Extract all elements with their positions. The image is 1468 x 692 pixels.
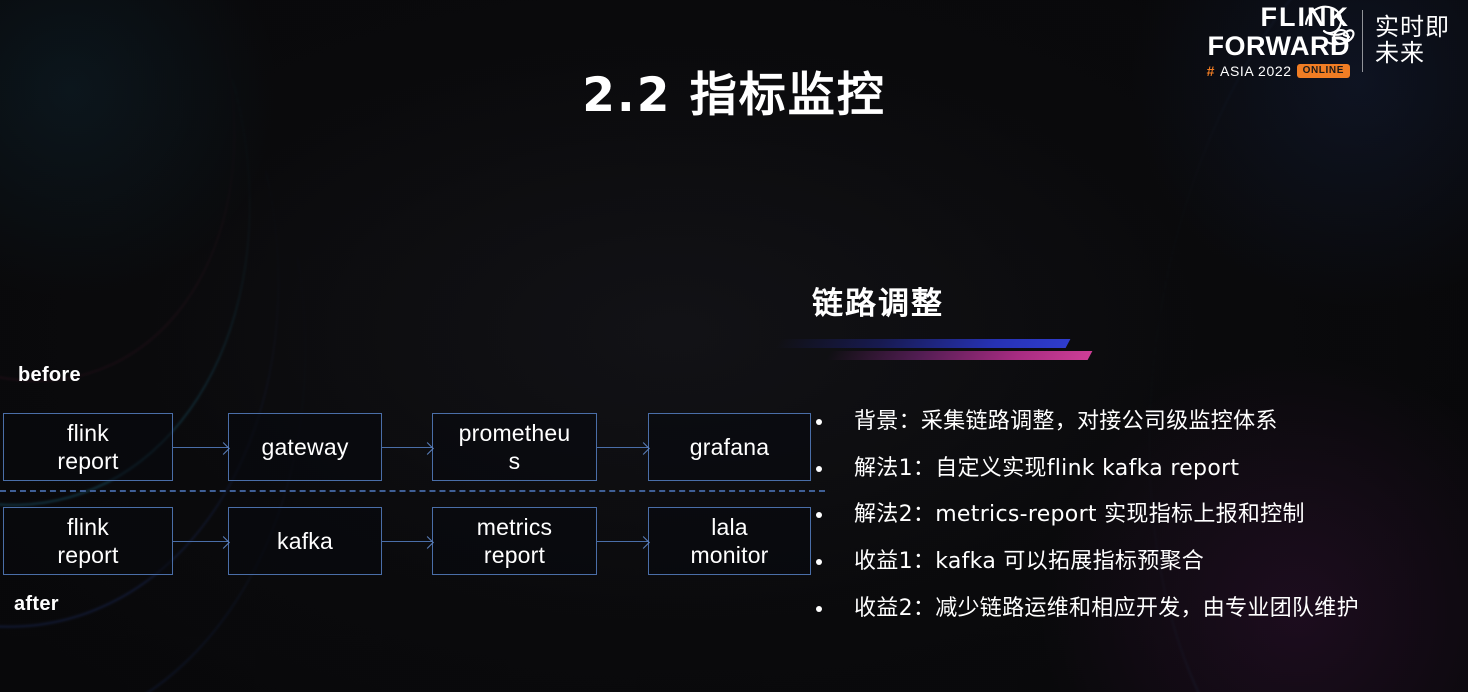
glow-top-left	[0, 0, 280, 300]
logo-tagline-line1: 实时即	[1375, 15, 1450, 41]
stage-label-before: before	[18, 364, 81, 387]
bullet-list: 背景：采集链路调整，对接公司级监控体系 解法1：自定义实现flink kafka…	[812, 404, 1412, 637]
stage-label-after: after	[14, 593, 59, 616]
arrow-before-1	[173, 447, 228, 448]
arrow-before-3	[597, 447, 648, 448]
bullet-text: 背景：采集链路调整，对接公司级监控体系	[854, 404, 1278, 440]
node-metrics-report: metricsreport	[432, 507, 597, 575]
node-flink-report-before: flinkreport	[3, 413, 173, 481]
bullet-dot-icon	[816, 559, 822, 565]
list-item: 收益2：减少链路运维和相应开发，由专业团队维护	[812, 591, 1412, 627]
node-kafka: kafka	[228, 507, 382, 575]
squirrel-icon	[1300, 2, 1362, 54]
node-prometheus: prometheus	[432, 413, 597, 481]
list-item: 收益1：kafka 可以拓展指标预聚合	[812, 544, 1412, 580]
arrow-before-2	[382, 447, 432, 448]
bullet-dot-icon	[816, 606, 822, 612]
slide-canvas: FLINK FORWARD # ASIA 2022 ONLINE 实时即 未来 …	[0, 0, 1468, 692]
accent-bar-blue	[776, 339, 1071, 348]
bullet-dot-icon	[816, 419, 822, 425]
bullet-text: 解法1：自定义实现flink kafka report	[854, 451, 1239, 487]
accent-bar-magenta	[826, 351, 1093, 360]
bullet-dot-icon	[816, 466, 822, 472]
node-lala-monitor: lalamonitor	[648, 507, 811, 575]
node-flink-report-after: flinkreport	[3, 507, 173, 575]
section-heading: 链路调整	[812, 278, 944, 323]
bullet-text: 解法2：metrics-report 实现指标上报和控制	[854, 497, 1305, 533]
arrow-after-1	[173, 541, 228, 542]
list-item: 背景：采集链路调整，对接公司级监控体系	[812, 404, 1412, 440]
page-title: 2.2 指标监控	[0, 56, 1468, 125]
arrow-after-2	[382, 541, 432, 542]
diagram-divider	[0, 490, 825, 492]
bullet-text: 收益1：kafka 可以拓展指标预聚合	[854, 544, 1204, 580]
arrow-after-3	[597, 541, 648, 542]
list-item: 解法1：自定义实现flink kafka report	[812, 451, 1412, 487]
pipeline-diagram: before after flinkreport gateway prometh…	[0, 355, 830, 655]
bullet-text: 收益2：减少链路运维和相应开发，由专业团队维护	[854, 591, 1359, 627]
node-grafana: grafana	[648, 413, 811, 481]
node-gateway: gateway	[228, 413, 382, 481]
bullet-dot-icon	[816, 512, 822, 518]
list-item: 解法2：metrics-report 实现指标上报和控制	[812, 497, 1412, 533]
